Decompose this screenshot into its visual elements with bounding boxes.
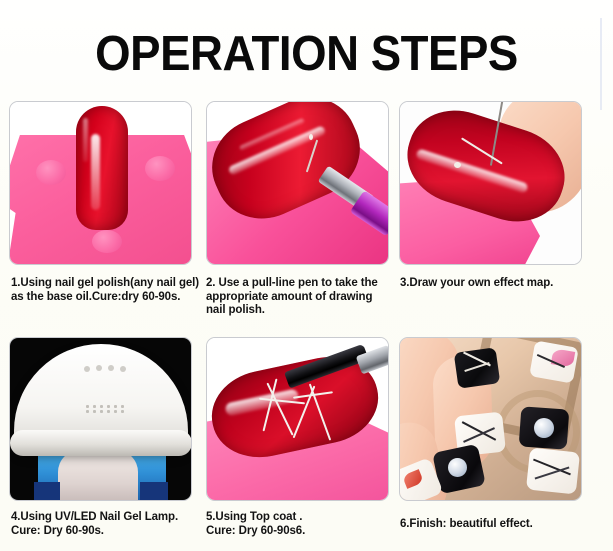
drawn-white-line: [309, 134, 313, 140]
step-image-3: [399, 101, 582, 265]
lamp-button-icon[interactable]: [108, 365, 114, 371]
step-image-6: [399, 337, 582, 501]
uv-lamp-base-rim-icon: [10, 430, 191, 456]
page-title: OPERATION STEPS: [21, 28, 591, 80]
nail-gloss-highlight: [83, 118, 88, 162]
step-caption-1: 1.Using nail gel polish(any nail gel) as…: [11, 277, 201, 304]
lamp-side-pad-icon: [140, 482, 168, 500]
mat-bump-icon: [36, 160, 66, 185]
step-image-1: [9, 101, 192, 265]
scene-draw-effect-map: [400, 102, 581, 264]
mat-bump-icon: [145, 156, 175, 181]
lamp-button-icon[interactable]: [120, 366, 126, 372]
nail-art-gem-icon: [534, 418, 554, 438]
step-image-5: [206, 337, 389, 501]
lamp-side-pad-icon: [34, 482, 60, 500]
step-caption-6: 6.Finish: beautiful effect.: [400, 518, 605, 532]
edge-rule-decoration: [600, 18, 602, 110]
scene-uv-led-lamp: [10, 338, 191, 500]
step-caption-2: 2. Use a pull-line pen to take the appro…: [206, 277, 391, 318]
operation-steps-page: OPERATION STEPS: [0, 0, 613, 551]
lamp-button-icon[interactable]: [96, 365, 102, 371]
scene-top-coat: [207, 338, 388, 500]
scene-pull-line-pen: [207, 102, 388, 264]
hand-icon: [58, 450, 138, 500]
mat-bump-icon: [92, 230, 122, 253]
step-caption-4: 4.Using UV/LED Nail Gel Lamp. Cure: Dry …: [11, 511, 201, 538]
scene-finished-nails: [400, 338, 581, 500]
nail-gloss-highlight: [91, 134, 100, 210]
step-image-4: [9, 337, 192, 501]
step-image-2: [206, 101, 389, 265]
step-caption-3: 3.Draw your own effect map.: [400, 277, 600, 291]
line-drop-icon: [454, 162, 461, 168]
step-caption-5: 5.Using Top coat . Cure: Dry 60-90s6.: [206, 511, 386, 538]
scene-nail-on-mat: [10, 102, 191, 264]
lamp-button-icon[interactable]: [84, 366, 90, 372]
nail-art-gem-icon: [448, 458, 467, 477]
lamp-vent-icon: [84, 404, 128, 414]
